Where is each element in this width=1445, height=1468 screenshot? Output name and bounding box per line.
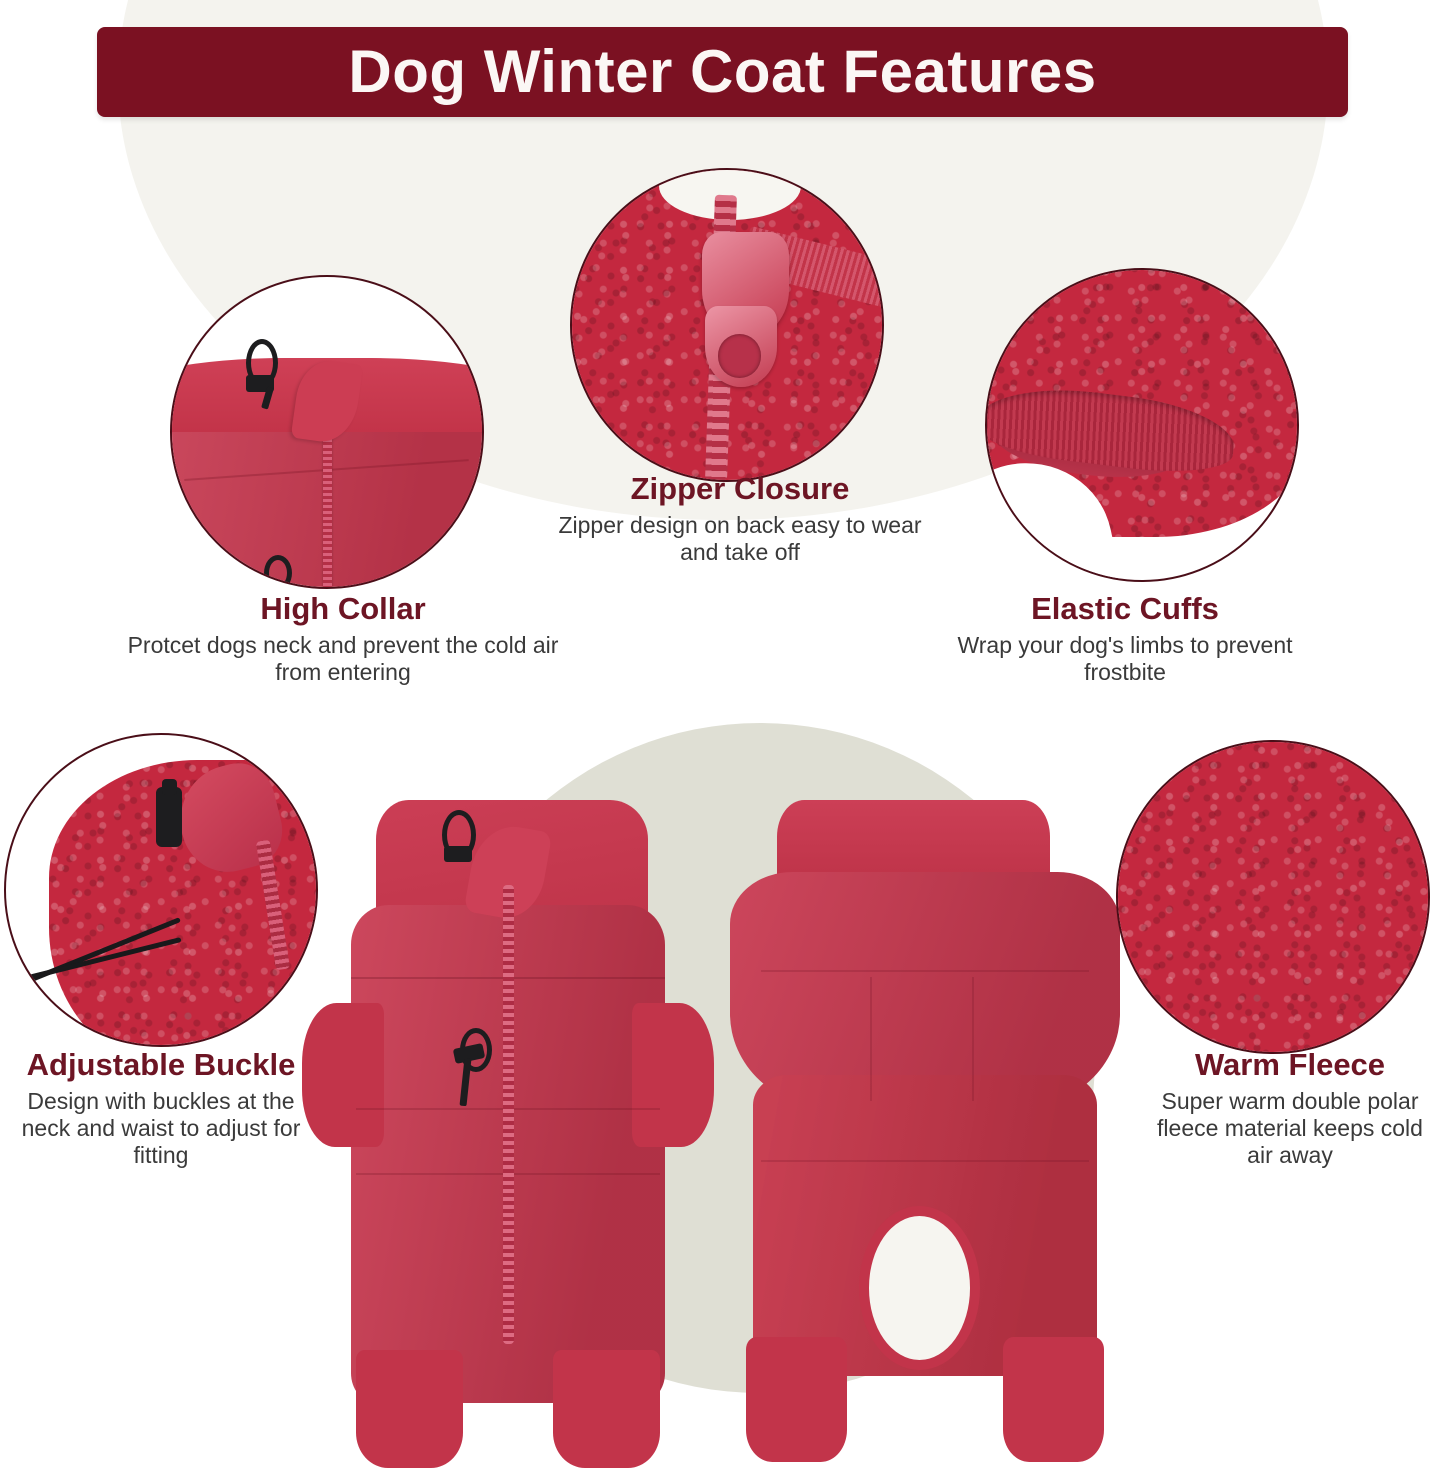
feature-desc-zipper-closure: Zipper design on back easy to wear and t… xyxy=(540,512,940,566)
feature-text-high-collar: High Collar Protcet dogs neck and preven… xyxy=(118,592,568,686)
feature-image-zipper-closure xyxy=(570,168,884,482)
front-zipper xyxy=(503,885,514,1344)
feature-desc-adjustable-buckle: Design with buckles at the neck and wais… xyxy=(0,1088,322,1169)
feature-title-high-collar: High Collar xyxy=(118,592,568,626)
feature-image-adjustable-buckle xyxy=(4,733,318,1047)
feature-text-warm-fleece: Warm Fleece Super warm double polar flee… xyxy=(1145,1048,1435,1169)
page-title: Dog Winter Coat Features xyxy=(348,42,1096,102)
back-yoke-seam xyxy=(761,970,1089,972)
product-photo-back-view xyxy=(730,800,1120,1455)
feature-desc-high-collar: Protcet dogs neck and prevent the cold a… xyxy=(118,632,568,686)
feature-title-adjustable-buckle: Adjustable Buckle xyxy=(0,1048,322,1082)
back-center-seam-right xyxy=(972,977,974,1101)
front-sleeve-right xyxy=(632,1003,714,1147)
back-leg-left xyxy=(746,1337,847,1461)
feature-title-zipper-closure: Zipper Closure xyxy=(540,472,940,506)
back-waist-seam xyxy=(761,1160,1089,1162)
back-center-seam-left xyxy=(870,977,872,1101)
back-belly-opening xyxy=(859,1206,980,1370)
feature-image-warm-fleece xyxy=(1116,740,1430,1054)
feature-text-elastic-cuffs: Elastic Cuffs Wrap your dog's limbs to p… xyxy=(955,592,1295,686)
feature-text-adjustable-buckle: Adjustable Buckle Design with buckles at… xyxy=(0,1048,322,1169)
feature-text-zipper-closure: Zipper Closure Zipper design on back eas… xyxy=(540,472,940,566)
warm-fleece-texture xyxy=(1118,742,1428,1052)
back-leg-right xyxy=(1003,1337,1104,1461)
zipper-pull-ring xyxy=(718,334,761,377)
lower-cord-loop-icon xyxy=(264,555,292,589)
back-shoulder-panel xyxy=(730,872,1120,1108)
cord-lock-icon xyxy=(156,787,182,847)
feature-title-warm-fleece: Warm Fleece xyxy=(1145,1048,1435,1082)
infographic-page: Dog Winter Coat Features xyxy=(0,0,1445,1468)
title-banner: Dog Winter Coat Features xyxy=(97,27,1348,117)
feature-desc-warm-fleece: Super warm double polar fleece material … xyxy=(1145,1088,1435,1169)
front-leg-left xyxy=(356,1350,463,1468)
feature-image-high-collar xyxy=(170,275,484,589)
front-cord-lock-icon xyxy=(444,846,472,862)
feature-title-elastic-cuffs: Elastic Cuffs xyxy=(955,592,1295,626)
feature-image-elastic-cuffs xyxy=(985,268,1299,582)
front-leg-right xyxy=(553,1350,660,1468)
product-photo-front-view xyxy=(302,800,714,1455)
feature-desc-elastic-cuffs: Wrap your dog's limbs to prevent frostbi… xyxy=(955,632,1295,686)
cord-lock-cap xyxy=(162,779,177,795)
